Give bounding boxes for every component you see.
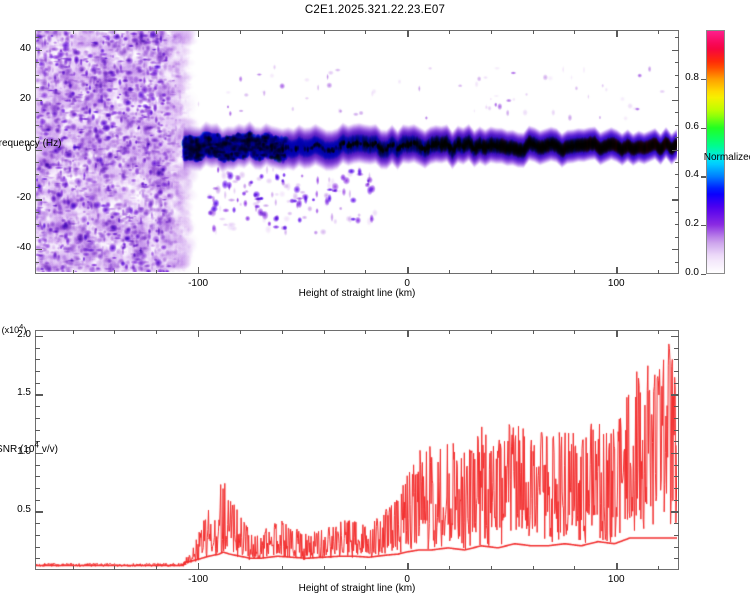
tick-mark: [491, 30, 492, 34]
tick-mark: [675, 212, 679, 213]
tick-mark: [35, 199, 42, 200]
tick-mark: [198, 30, 199, 37]
tick-mark: [674, 418, 679, 419]
tick-mark: [533, 330, 534, 334]
tick-mark: [449, 270, 450, 274]
tick-mark: [35, 249, 42, 250]
tick-mark: [674, 441, 679, 442]
spectrogram-canvas: [36, 31, 677, 272]
tick-mark: [674, 547, 679, 548]
tick-mark: [674, 476, 679, 477]
colorbar-label: Normalized spectral amplitude: [691, 152, 750, 163]
tick-mark: [574, 30, 575, 34]
tick-mark: [675, 237, 679, 238]
tick-mark: [35, 224, 39, 225]
tick-mark: [674, 359, 679, 360]
snr-ylabel: SNR (104 v/v): [0, 440, 77, 455]
tick-mark: [675, 62, 679, 63]
tick-mark: [671, 453, 679, 454]
tick-mark: [35, 262, 39, 263]
tick-mark: [674, 558, 679, 559]
tick-mark: [324, 30, 325, 34]
tick-mark: [672, 249, 679, 250]
tick-mark: [35, 547, 40, 548]
tick-mark: [658, 330, 659, 334]
tick-mark: [35, 394, 43, 395]
tick-mark: [35, 62, 39, 63]
tick-mark: [114, 270, 115, 274]
tick-mark: [240, 566, 241, 570]
tick-label: 100: [594, 574, 638, 585]
tick-mark: [35, 87, 39, 88]
tick-label: -100: [176, 574, 220, 585]
tick-mark: [282, 30, 283, 34]
tick-mark: [407, 330, 408, 337]
tick-mark: [73, 30, 74, 34]
tick-mark: [114, 566, 115, 570]
tick-mark: [35, 75, 39, 76]
tick-mark: [449, 566, 450, 570]
tick-mark: [282, 270, 283, 274]
tick-mark: [35, 558, 40, 559]
tick-mark: [35, 500, 40, 501]
tick-mark: [114, 30, 115, 34]
tick-mark: [35, 406, 40, 407]
tick-mark: [449, 30, 450, 34]
tick-mark: [198, 330, 199, 337]
tick-mark: [240, 330, 241, 334]
tick-mark: [365, 30, 366, 34]
tick-mark: [73, 270, 74, 274]
tick-label: 0.6: [672, 121, 699, 132]
tick-mark: [674, 383, 679, 384]
tick-mark: [674, 371, 679, 372]
spectrogram-xlabel: Height of straight line (km): [232, 288, 482, 299]
tick-mark: [156, 30, 157, 34]
tick-mark: [674, 523, 679, 524]
tick-mark: [671, 511, 679, 512]
tick-mark: [449, 330, 450, 334]
tick-mark: [701, 225, 706, 226]
tick-mark: [533, 30, 534, 34]
tick-mark: [491, 270, 492, 274]
tick-mark: [35, 150, 42, 151]
page-title: C2E1.2025.321.22.23.E07: [0, 4, 750, 16]
tick-label: 40: [1, 43, 31, 54]
tick-mark: [675, 112, 679, 113]
tick-mark: [35, 523, 40, 524]
tick-mark: [616, 563, 617, 570]
tick-mark: [198, 267, 199, 274]
figure-root: C2E1.2025.321.22.23.E07 -100010040200-20…: [0, 0, 750, 600]
tick-mark: [407, 30, 408, 37]
tick-mark: [35, 488, 40, 489]
tick-mark: [35, 348, 40, 349]
tick-mark: [672, 100, 679, 101]
tick-mark: [675, 137, 679, 138]
tick-mark: [35, 162, 39, 163]
tick-mark: [675, 87, 679, 88]
tick-label: 0.8: [672, 72, 699, 83]
tick-label: 0.0: [672, 267, 699, 278]
tick-mark: [35, 112, 39, 113]
tick-mark: [674, 465, 679, 466]
tick-mark: [701, 176, 706, 177]
tick-label: 0.4: [672, 169, 699, 180]
tick-mark: [198, 563, 199, 570]
snr-frame: [35, 330, 679, 570]
tick-mark: [35, 430, 40, 431]
tick-mark: [674, 535, 679, 536]
tick-mark: [658, 566, 659, 570]
tick-mark: [672, 50, 679, 51]
tick-label: 20: [1, 93, 31, 104]
tick-mark: [672, 150, 679, 151]
tick-label: 100: [594, 278, 638, 289]
tick-mark: [324, 330, 325, 334]
tick-mark: [35, 465, 40, 466]
tick-mark: [674, 488, 679, 489]
tick-label: -100: [176, 278, 220, 289]
tick-mark: [73, 330, 74, 334]
tick-mark: [35, 237, 39, 238]
tick-mark: [156, 270, 157, 274]
tick-mark: [533, 566, 534, 570]
tick-mark: [407, 267, 408, 274]
tick-label: 0.5: [2, 504, 31, 515]
tick-mark: [35, 37, 39, 38]
tick-mark: [574, 330, 575, 334]
tick-mark: [671, 394, 679, 395]
tick-mark: [35, 187, 39, 188]
tick-mark: [701, 274, 706, 275]
tick-mark: [73, 566, 74, 570]
tick-mark: [35, 100, 42, 101]
tick-mark: [674, 500, 679, 501]
tick-label: -40: [1, 242, 31, 253]
tick-mark: [35, 50, 42, 51]
tick-mark: [675, 262, 679, 263]
tick-mark: [674, 348, 679, 349]
tick-mark: [674, 430, 679, 431]
tick-mark: [407, 563, 408, 570]
tick-mark: [35, 336, 43, 337]
spectrogram-ylabel: Frequency (Hz): [0, 138, 77, 149]
tick-mark: [365, 330, 366, 334]
tick-mark: [365, 270, 366, 274]
tick-mark: [240, 30, 241, 34]
tick-mark: [672, 199, 679, 200]
tick-mark: [701, 128, 706, 129]
tick-mark: [365, 566, 366, 570]
tick-mark: [35, 174, 39, 175]
tick-mark: [675, 162, 679, 163]
tick-mark: [616, 267, 617, 274]
tick-mark: [282, 330, 283, 334]
tick-mark: [35, 359, 40, 360]
tick-mark: [658, 30, 659, 34]
spectrogram-frame: [35, 30, 679, 274]
tick-mark: [156, 566, 157, 570]
tick-mark: [658, 270, 659, 274]
tick-mark: [675, 37, 679, 38]
tick-mark: [156, 330, 157, 334]
tick-mark: [616, 330, 617, 337]
tick-mark: [324, 566, 325, 570]
tick-mark: [35, 476, 40, 477]
tick-mark: [35, 383, 40, 384]
snr-scale-note: (x104): [0, 322, 44, 335]
tick-mark: [35, 371, 40, 372]
tick-mark: [616, 30, 617, 37]
tick-mark: [671, 336, 679, 337]
snr-xlabel: Height of straight line (km): [232, 583, 482, 594]
tick-mark: [574, 270, 575, 274]
tick-mark: [35, 418, 40, 419]
tick-mark: [675, 187, 679, 188]
tick-mark: [35, 125, 39, 126]
tick-mark: [574, 566, 575, 570]
tick-mark: [114, 330, 115, 334]
tick-mark: [491, 330, 492, 334]
tick-label: 1.5: [2, 387, 31, 398]
tick-mark: [491, 566, 492, 570]
tick-mark: [533, 270, 534, 274]
tick-mark: [674, 406, 679, 407]
tick-mark: [701, 79, 706, 80]
tick-mark: [324, 270, 325, 274]
tick-label: 0.2: [672, 218, 699, 229]
tick-mark: [35, 535, 40, 536]
tick-mark: [240, 270, 241, 274]
tick-mark: [35, 511, 43, 512]
tick-label: -20: [1, 192, 31, 203]
snr-canvas: [36, 331, 677, 568]
tick-mark: [35, 212, 39, 213]
tick-mark: [282, 566, 283, 570]
